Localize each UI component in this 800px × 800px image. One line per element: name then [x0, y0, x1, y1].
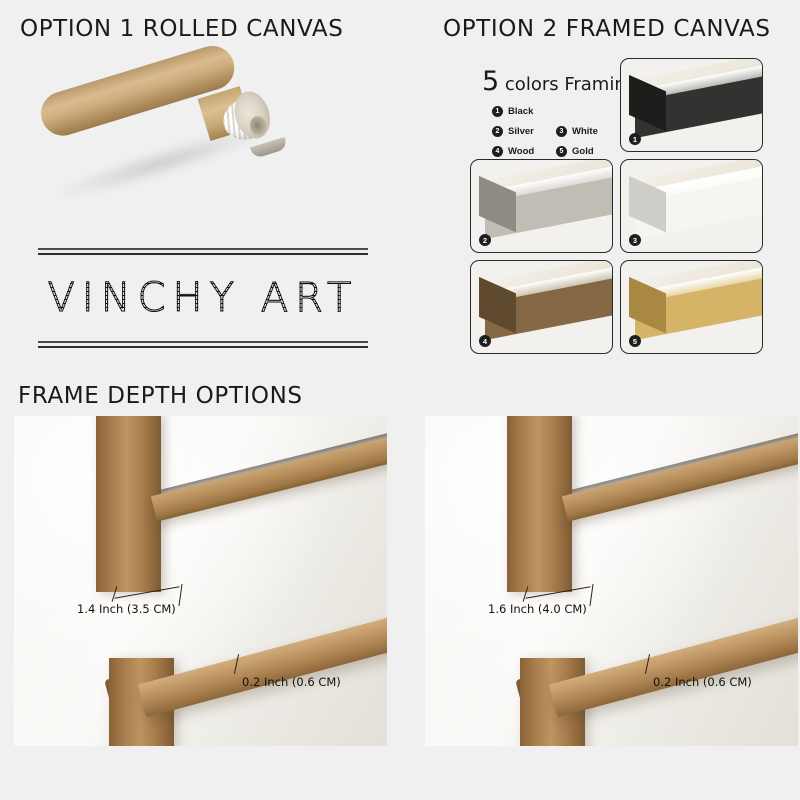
thickness-measurement-label: 0.2 Inch (0.6 CM) [242, 675, 341, 689]
swatch-badge: 4 [479, 335, 491, 347]
thickness-measurement-label: 0.2 Inch (0.6 CM) [653, 675, 752, 689]
framing-colors-panel: 5 colors Framing 1 Black 2 Silver 3 Whit… [470, 58, 770, 358]
swatch-badge: 2 [479, 234, 491, 246]
rolled-canvas-tube-image [28, 58, 293, 203]
frame-corner-art [621, 59, 762, 151]
frame-corner-art [621, 261, 762, 353]
frame-vertical-bar [507, 416, 572, 592]
frame-corner-art [471, 160, 612, 252]
logo-wordmark: VINCHY ART [38, 275, 368, 321]
swatch-badge: 3 [629, 234, 641, 246]
option2-heading: OPTION 2 FRAMED CANVAS [443, 16, 771, 42]
frame-corner-art [621, 160, 762, 252]
frame-swatch-gold[interactable]: 5 [620, 260, 763, 354]
frame-corner-art [471, 261, 612, 353]
frame-swatch-grid: 1 2 3 [470, 58, 770, 358]
option1-heading: OPTION 1 ROLLED CANVAS [20, 16, 343, 42]
swatch-badge: 5 [629, 335, 641, 347]
brand-logo: VINCHY ART [38, 248, 368, 348]
depth-measurement-label: 1.6 Inch (4.0 CM) [488, 602, 587, 616]
product-info-graphic: OPTION 1 ROLLED CANVAS VINCHY ART OPTION… [0, 0, 800, 800]
frame-swatch-white[interactable]: 3 [620, 159, 763, 253]
frame-depth-photo-right: 1.6 Inch (4.0 CM) 0.2 Inch (0.6 CM) [425, 416, 798, 746]
frame-depth-heading: FRAME DEPTH OPTIONS [18, 383, 303, 409]
frame-swatch-black[interactable]: 1 [620, 58, 763, 152]
frame-swatch-silver[interactable]: 2 [470, 159, 613, 253]
frame-swatch-wood[interactable]: 4 [470, 260, 613, 354]
frame-vertical-bar [96, 416, 161, 592]
logo-rule-top [38, 248, 368, 255]
logo-rule-bottom [38, 341, 368, 348]
frame-depth-photo-left: 1.4 Inch (3.5 CM) 0.2 Inch (0.6 CM) [14, 416, 387, 746]
depth-measurement-label: 1.4 Inch (3.5 CM) [77, 602, 176, 616]
swatch-badge: 1 [629, 133, 641, 145]
